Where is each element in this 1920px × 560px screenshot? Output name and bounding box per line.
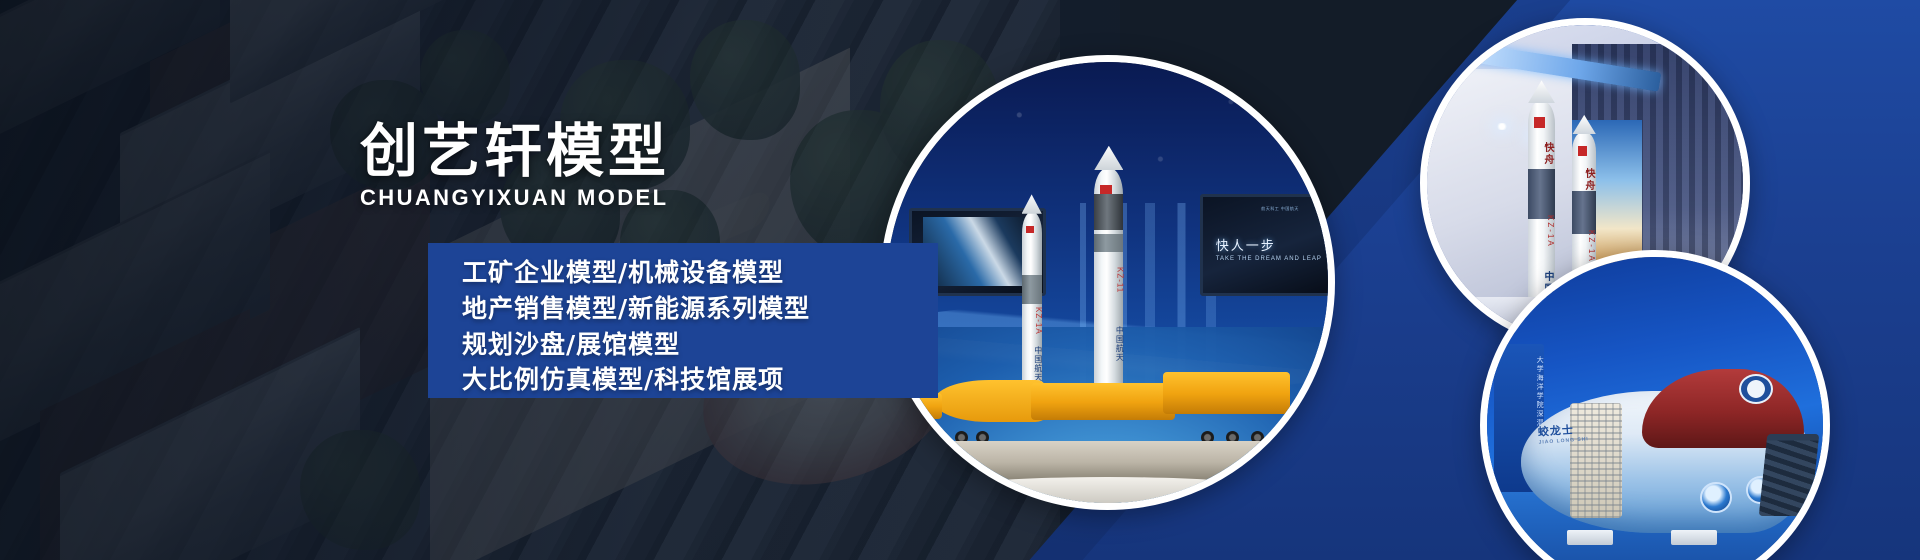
brand-text-block: 创艺轩模型 CHUANGYIXUAN MODEL [360, 120, 960, 211]
rocket-model-small: KZ-1A 中国航天 [1022, 212, 1042, 388]
brand-name-en: CHUANGYIXUAN MODEL [360, 185, 960, 211]
truck-erector-frame [1163, 372, 1290, 414]
manipulator-arm [1759, 434, 1820, 516]
screen-headline-cn: 快人一步 [1216, 235, 1276, 254]
service-list-box: 工矿企业模型/机械设备模型 地产销售模型/新能源系列模型 规划沙盘/展馆模型 大… [428, 243, 938, 398]
display-stand [1671, 530, 1717, 546]
rocket-code-label: KZ-1A [1528, 215, 1555, 248]
rocket-model-large: KZ-11 中国航天 [1094, 168, 1123, 389]
china-flag-decal [1534, 117, 1545, 128]
rocket-name-label: 快舟 [1572, 168, 1596, 192]
rocket-name-label: 快舟 [1528, 142, 1555, 166]
rocket-stage-band [1572, 191, 1596, 234]
service-line: 工矿企业模型/机械设备模型 [462, 255, 938, 291]
brand-name-cn: 创艺轩模型 [360, 120, 960, 183]
submersible-name-label: 蛟龙士 JIAO LONG SHI [1537, 421, 1589, 446]
truck-container [1031, 383, 1175, 420]
rocket-upper-band [1094, 194, 1123, 229]
china-flag-decal [1026, 226, 1035, 233]
service-line: 规划沙盘/展馆模型 [462, 327, 938, 363]
rocket-code-label: KZ-11 [1094, 256, 1123, 305]
screen-tiny-text: 航天科工 中国航天 [1261, 206, 1299, 212]
submersible-hull: 蛟龙士 JIAO LONG SHI [1521, 391, 1810, 532]
rocket-code-label: KZ-1A [1022, 304, 1042, 339]
truck-payload-fairing [934, 380, 1044, 422]
rocket-stage-band [1528, 169, 1555, 219]
promo-banner: 航天科工 中国航天 快人一步 TAKE THE DREAM AND LEAP K… [0, 0, 1920, 560]
viewport-window [1700, 482, 1732, 513]
spotlight [1497, 123, 1507, 130]
rocket-stage-band [1022, 275, 1042, 303]
display-stand [1567, 530, 1613, 546]
service-line: 地产销售模型/新能源系列模型 [462, 291, 938, 327]
institute-emblem [1739, 374, 1773, 404]
china-flag-decal [1100, 185, 1112, 194]
screen-headline-en: TAKE THE DREAM AND LEAP [1216, 256, 1322, 262]
display-screen-right: 航天科工 中国航天 快人一步 TAKE THE DREAM AND LEAP [1200, 194, 1332, 295]
photo-deep-sea-submersible: 大学海洋学院深潜士 蛟龙士 JIAO LONG SHI [1480, 250, 1830, 560]
transporter-truck-model [896, 366, 1319, 441]
rocket-stage-band [1094, 234, 1123, 252]
china-flag-decal [1578, 146, 1587, 156]
service-line: 大比例仿真模型/科技馆展项 [462, 362, 938, 398]
